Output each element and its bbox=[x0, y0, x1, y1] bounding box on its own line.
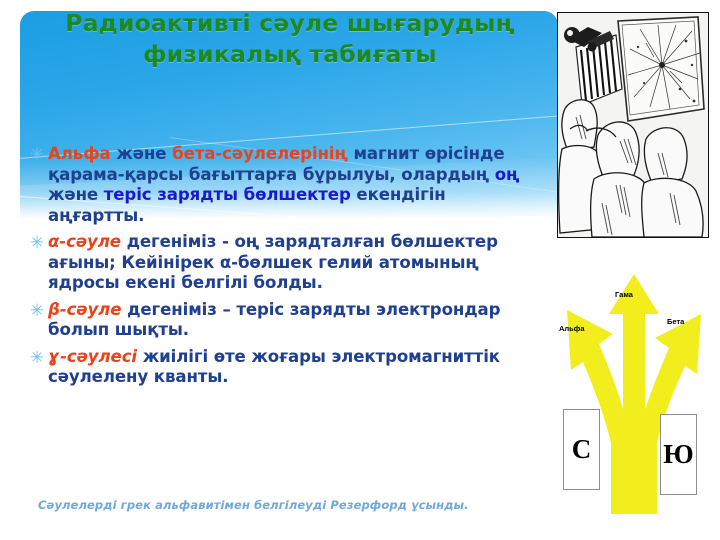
text-run: α-сәуле bbox=[48, 232, 121, 251]
bullet-item: ✳β-сәуле дегеніміз – теріс зарядты элект… bbox=[26, 300, 546, 341]
text-run: бета-сәулелерінің bbox=[172, 144, 348, 163]
bullet-star-icon: ✳ bbox=[26, 144, 48, 165]
slide-title: Радиоактивті сәуле шығарудың физикалық т… bbox=[60, 8, 520, 69]
text-run: β-сәуле bbox=[48, 300, 121, 319]
bullet-text: β-сәуле дегеніміз – теріс зарядты электр… bbox=[48, 300, 546, 341]
bullet-text: Альфа және бета-сәулелерінің магнит өріс… bbox=[48, 144, 546, 226]
radiation-deflection-diagram: Альфа Гама Бета С Ю bbox=[553, 252, 715, 514]
text-run: ɣ-сәулесі bbox=[48, 347, 137, 366]
magnet-pole-box-right: Ю bbox=[660, 414, 697, 495]
bullet-star-icon: ✳ bbox=[26, 347, 48, 368]
bullet-text: α-сәуле дегеніміз - оң зарядталған бөлше… bbox=[48, 232, 546, 294]
magnet-pole-box-left: С bbox=[563, 409, 600, 490]
text-run: Альфа bbox=[48, 144, 111, 163]
text-run: оң bbox=[495, 165, 520, 184]
bullet-star-icon: ✳ bbox=[26, 300, 48, 321]
bullet-list: ✳Альфа және бета-сәулелерінің магнит өрі… bbox=[26, 144, 546, 394]
slide-canvas: Радиоактивті сәуле шығарудың физикалық т… bbox=[0, 0, 720, 540]
arrow-label-gamma: Гама bbox=[615, 290, 633, 299]
arrow-label-beta: Бета bbox=[667, 317, 684, 326]
footer-caption: Сәулелерді грек альфавитімен белгілеуді … bbox=[38, 498, 538, 512]
bullet-item: ✳α-сәуле дегеніміз - оң зарядталған бөлш… bbox=[26, 232, 546, 294]
text-run: және bbox=[48, 185, 104, 204]
bullet-text: ɣ-сәулесі жиілігі өте жоғары электромагн… bbox=[48, 347, 546, 388]
bullet-item: ✳ɣ-сәулесі жиілігі өте жоғары электромаг… bbox=[26, 347, 546, 388]
engraving-image bbox=[557, 12, 709, 238]
text-run: теріс зарядты бөлшектер bbox=[104, 185, 351, 204]
text-run: және bbox=[111, 144, 172, 163]
bullet-item: ✳Альфа және бета-сәулелерінің магнит өрі… bbox=[26, 144, 546, 226]
arrow-label-alpha: Альфа bbox=[559, 324, 585, 333]
bullet-star-icon: ✳ bbox=[26, 232, 48, 253]
